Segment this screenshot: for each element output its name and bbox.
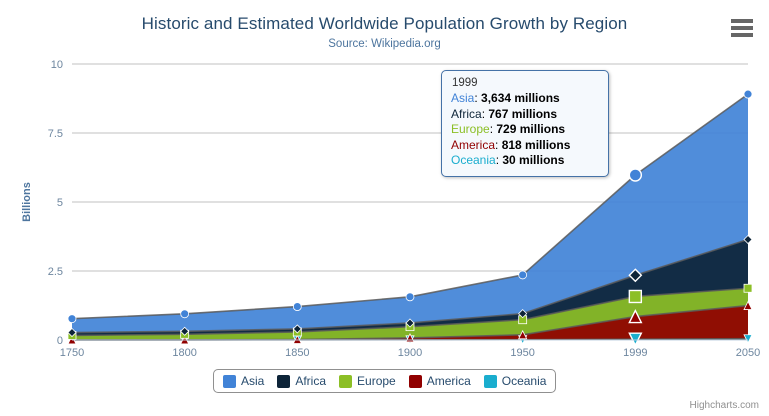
data-point-asia[interactable]	[293, 303, 301, 311]
legend-item-oceania[interactable]: Oceania	[484, 374, 547, 388]
data-point-europe[interactable]	[629, 290, 641, 302]
highcharts-credits[interactable]: Highcharts.com	[690, 400, 759, 411]
y-axis-tick-label: 10	[51, 59, 63, 71]
x-axis-tick-label[interactable]: 2050	[736, 347, 760, 359]
data-point-europe[interactable]	[744, 284, 752, 292]
chart-container: Historic and Estimated Worldwide Populat…	[0, 0, 769, 416]
legend-label: Africa	[295, 374, 326, 388]
x-axis-tick-label[interactable]: 1999	[623, 347, 647, 359]
data-point-asia[interactable]	[181, 310, 189, 318]
y-axis-tick-label: 5	[57, 197, 63, 209]
plot-area: 02.557.510Billions1750180018501900195019…	[0, 0, 769, 416]
legend-label: Oceania	[502, 374, 547, 388]
legend-item-asia[interactable]: Asia	[223, 374, 264, 388]
data-point-asia[interactable]	[68, 315, 76, 323]
data-point-asia[interactable]	[406, 293, 414, 301]
x-axis-tick-label[interactable]: 1850	[285, 347, 309, 359]
legend-swatch-icon	[277, 375, 290, 388]
x-axis-tick-label[interactable]: 1800	[172, 347, 196, 359]
y-axis-tick-label: 0	[57, 335, 63, 347]
y-axis-title: Billions	[21, 182, 33, 222]
data-point-asia[interactable]	[744, 90, 752, 98]
x-axis-tick-label[interactable]: 1950	[510, 347, 534, 359]
y-axis-tick-label: 2.5	[48, 266, 63, 278]
legend-item-europe[interactable]: Europe	[339, 374, 396, 388]
legend-swatch-icon	[409, 375, 422, 388]
legend-swatch-icon	[484, 375, 497, 388]
legend-swatch-icon	[339, 375, 352, 388]
legend-label: Europe	[357, 374, 396, 388]
legend-item-america[interactable]: America	[409, 374, 471, 388]
data-point-asia[interactable]	[519, 271, 527, 279]
data-point-asia[interactable]	[629, 169, 641, 181]
y-axis-tick-label: 7.5	[48, 128, 63, 140]
chart-legend: AsiaAfricaEuropeAmericaOceania	[213, 369, 556, 393]
legend-label: America	[427, 374, 471, 388]
x-axis-tick-label[interactable]: 1900	[398, 347, 422, 359]
legend-label: Asia	[241, 374, 264, 388]
legend-swatch-icon	[223, 375, 236, 388]
legend-item-africa[interactable]: Africa	[277, 374, 326, 388]
x-axis-tick-label[interactable]: 1750	[60, 347, 84, 359]
